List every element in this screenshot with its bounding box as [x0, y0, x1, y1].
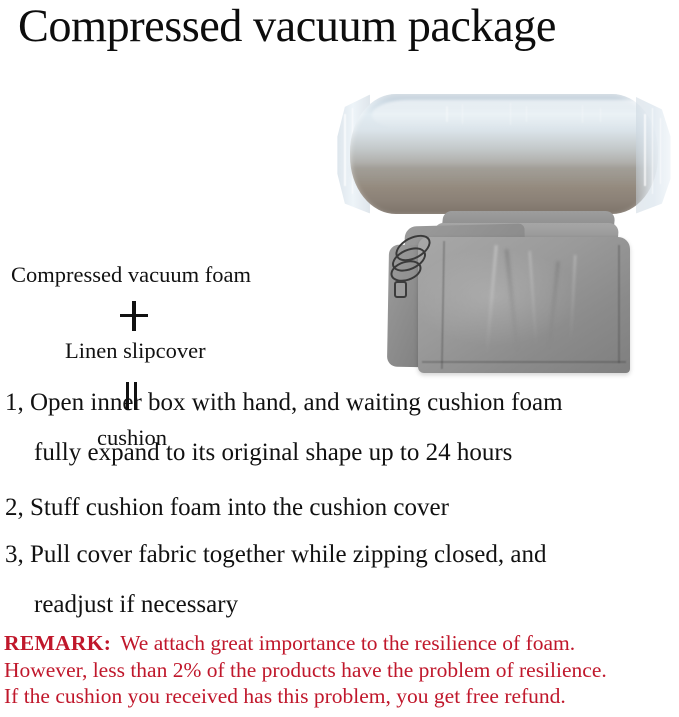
roll-shadow — [352, 166, 656, 184]
roll-crease — [526, 106, 527, 122]
formula-term-linen-slipcover: Linen slipcover — [65, 338, 206, 364]
instruction-step-2: 2, Stuff cushion foam into the cushion c… — [5, 494, 449, 521]
roll-crease — [582, 105, 583, 123]
plus-icon — [120, 301, 148, 331]
step-3-line-2: readjust if necessary — [5, 591, 547, 618]
wrap-fold — [344, 114, 346, 186]
roll-highlight — [372, 100, 664, 130]
remark-label: REMARK: — [4, 631, 111, 655]
product-formula: Compressed vacuum foam Linen slipcover c… — [0, 128, 330, 338]
foam-roll-body — [350, 94, 658, 214]
wrap-fold — [644, 114, 646, 186]
cover-front-panel — [418, 237, 630, 373]
wrap-fold — [660, 118, 661, 184]
remark-line-2: However, less than 2% of the products ha… — [4, 657, 676, 684]
plastic-wrap-right-end — [636, 92, 672, 216]
wrap-fold — [652, 108, 653, 194]
step-1-line-2: fully expand to its original shape up to… — [5, 439, 563, 466]
remark-line-1: REMARK:We attach great importance to the… — [4, 630, 676, 657]
formula-term-compressed-vacuum-foam: Compressed vacuum foam — [11, 262, 251, 288]
roll-crease — [600, 108, 601, 122]
remark-line-3: If the cushion you received has this pro… — [4, 683, 676, 710]
zipper-cord-icon — [390, 231, 436, 295]
roll-crease — [462, 104, 463, 124]
zipper-pull — [394, 281, 407, 298]
roll-crease — [510, 103, 511, 125]
step-1-line-1: 1, Open inner box with hand, and waiting… — [5, 389, 563, 416]
remark-text-1: We attach great importance to the resili… — [120, 631, 575, 655]
instruction-step-3: 3, Pull cover fabric together while zipp… — [5, 541, 547, 618]
instruction-step-1: 1, Open inner box with hand, and waiting… — [5, 389, 563, 466]
fabric-fold-edge — [618, 245, 620, 363]
vacuum-sealed-foam-roll-photo — [336, 92, 672, 215]
step-2-line-1: 2, Stuff cushion foam into the cushion c… — [5, 494, 449, 521]
page-title: Compressed vacuum package — [18, 0, 556, 54]
fabric-fold-edge — [422, 361, 626, 363]
step-3-line-1: 3, Pull cover fabric together while zipp… — [5, 541, 547, 568]
remark-block: REMARK:We attach great importance to the… — [4, 630, 676, 710]
folded-slipcover-photo — [382, 211, 632, 379]
roll-crease — [446, 106, 448, 122]
